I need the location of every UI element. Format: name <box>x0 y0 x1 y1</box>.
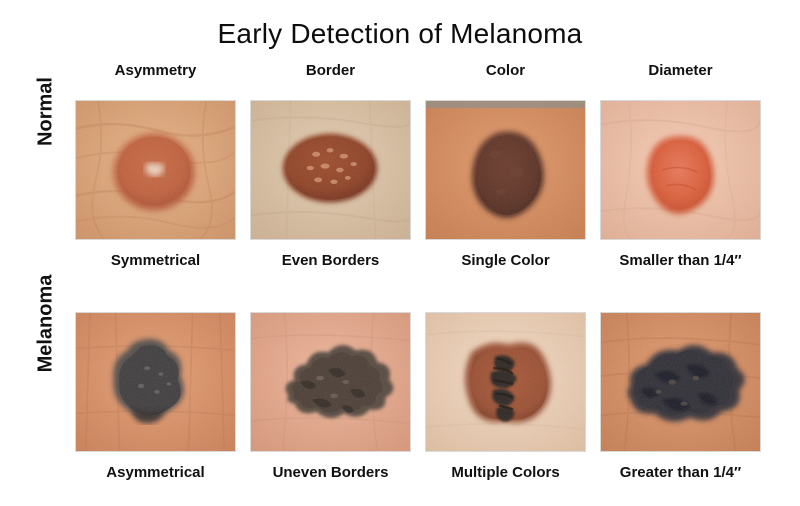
photo-melanoma-border <box>250 312 411 452</box>
caption-row-melanoma: Asymmetrical Uneven Borders Multiple Col… <box>68 464 770 481</box>
photo-melanoma-diameter <box>600 312 761 452</box>
row-label-melanoma: Melanoma <box>35 254 58 394</box>
photo-cell-melanoma-asymmetry <box>68 312 243 452</box>
caption-normal-color: Single Color <box>418 252 593 269</box>
row-label-normal: Normal <box>35 42 58 182</box>
photo-row-normal <box>68 100 770 240</box>
column-header-row: Asymmetry Border Color Diameter <box>68 62 770 79</box>
photo-normal-color <box>425 100 586 240</box>
photo-cell-normal-border <box>243 100 418 240</box>
photo-cell-melanoma-border <box>243 312 418 452</box>
caption-melanoma-asymmetry: Asymmetrical <box>68 464 243 481</box>
column-header-color: Color <box>418 62 593 79</box>
photo-melanoma-asymmetry <box>75 312 236 452</box>
photo-cell-melanoma-color <box>418 312 593 452</box>
caption-row-normal: Symmetrical Even Borders Single Color Sm… <box>68 252 770 269</box>
column-header-asymmetry: Asymmetry <box>68 62 243 79</box>
column-header-border: Border <box>243 62 418 79</box>
photo-cell-normal-asymmetry <box>68 100 243 240</box>
photo-cell-normal-color <box>418 100 593 240</box>
photo-normal-diameter <box>600 100 761 240</box>
photo-cell-normal-diameter <box>593 100 768 240</box>
caption-melanoma-color: Multiple Colors <box>418 464 593 481</box>
caption-melanoma-diameter: Greater than 1/4″ <box>593 464 768 481</box>
melanoma-abcd-infographic: Early Detection of Melanoma Asymmetry Bo… <box>0 0 800 506</box>
caption-normal-border: Even Borders <box>243 252 418 269</box>
caption-melanoma-border: Uneven Borders <box>243 464 418 481</box>
photo-melanoma-color <box>425 312 586 452</box>
column-header-diameter: Diameter <box>593 62 768 79</box>
photo-normal-asymmetry <box>75 100 236 240</box>
photo-cell-melanoma-diameter <box>593 312 768 452</box>
page-title: Early Detection of Melanoma <box>0 18 800 50</box>
photo-normal-border <box>250 100 411 240</box>
caption-normal-diameter: Smaller than 1/4″ <box>593 252 768 269</box>
photo-row-melanoma <box>68 312 770 452</box>
caption-normal-asymmetry: Symmetrical <box>68 252 243 269</box>
